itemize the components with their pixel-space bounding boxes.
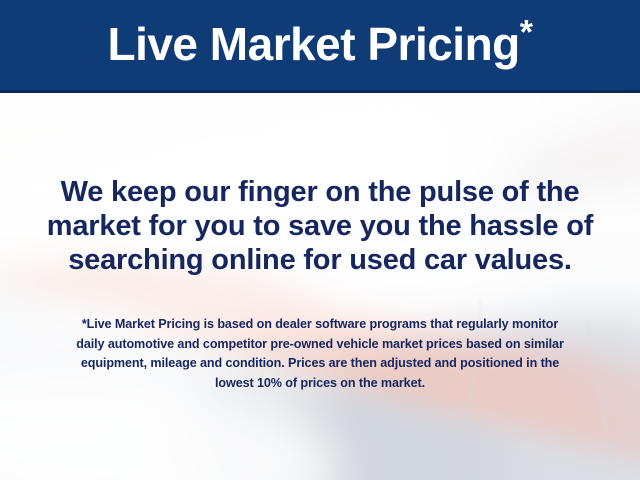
- page-title-asterisk: *: [520, 14, 533, 52]
- disclaimer-line-2: daily automotive and competitor pre-owne…: [18, 335, 622, 355]
- headline: We keep our finger on the pulse of the m…: [0, 175, 640, 277]
- disclaimer-line-3: equipment, mileage and condition. Prices…: [18, 354, 622, 374]
- disclaimer-line-4: lowest 10% of prices on the market.: [18, 374, 622, 394]
- live-market-pricing-banner: Live Market Pricing* We keep our finger …: [0, 0, 640, 480]
- disclaimer: *Live Market Pricing is based on dealer …: [0, 315, 640, 393]
- page-title: Live Market Pricing*: [107, 21, 532, 67]
- headline-line-3: searching online for used car values.: [26, 243, 614, 277]
- banner-content: We keep our finger on the pulse of the m…: [0, 93, 640, 480]
- disclaimer-line-1: *Live Market Pricing is based on dealer …: [18, 315, 622, 335]
- headline-line-2: market for you to save you the hassle of: [26, 209, 614, 243]
- headline-line-1: We keep our finger on the pulse of the: [26, 175, 614, 209]
- page-title-text: Live Market Pricing: [107, 18, 519, 70]
- header-band: Live Market Pricing*: [0, 0, 640, 93]
